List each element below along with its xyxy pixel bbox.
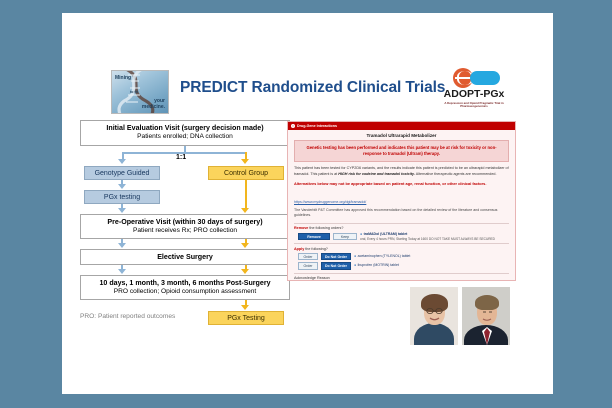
pgx-testing-bottom-label: PGx Testing — [227, 315, 265, 322]
page-title: PREDICT Randomized Clinical Trials — [180, 79, 455, 97]
remove-section-label: Remove — [294, 226, 308, 230]
remove-order-name: traMADol (ULTRAM) tablet — [364, 232, 408, 236]
pgx-testing-top-label: PGx testing — [104, 194, 140, 201]
keep-button[interactable]: Keep — [333, 233, 357, 241]
arrowhead-postop-to-pgx — [241, 305, 249, 310]
cds-alert-body: This patient has been tested for CYP2D6 … — [294, 166, 509, 177]
dna-logo-line3: to fit — [130, 90, 138, 94]
arrowhead-left — [118, 159, 126, 164]
adopt-pgx-logo: ADOPT-PGx A Depression and Opioid Pragma… — [441, 68, 507, 116]
cds-alert-heading: Tramadol Ultrarapid Metabolizer — [288, 130, 515, 140]
adopt-pgx-subtitle: A Depression and Opioid Pragmatic Trial … — [441, 102, 507, 109]
flow-box-elective-surgery: Elective Surgery — [80, 249, 290, 265]
postop-line2: PRO collection; Opioid consumption asses… — [114, 288, 257, 297]
pill-capsule-icon — [470, 71, 500, 85]
flow-box-post-surgery: 10 days, 1 month, 3 month, 6 months Post… — [80, 275, 290, 300]
cds-alert-titlebar: ! Drug-Gene Interactions — [288, 122, 515, 130]
apply-order-text-acetaminophen: ●acetaminophen (TYLENOL) tablet — [354, 254, 410, 259]
acknowledge-reason-label: Acknowledge Reason — [294, 273, 509, 281]
cds-apply-section: Apply the following? — [294, 243, 509, 251]
remove-button[interactable]: Remove — [298, 233, 330, 241]
cds-reference-link[interactable]: https://www.mydruggenome.org/dgi/tramado… — [294, 200, 366, 204]
dna-logo-line1: Mining — [115, 75, 131, 81]
flowchart-footnote: PRO: Patient reported outcomes — [80, 313, 175, 320]
initial-visit-line2: Patients enrolled; DNA collection — [137, 133, 233, 142]
arrowhead-control-to-preop — [241, 208, 249, 213]
do-not-order-button-acetaminophen[interactable]: Do Not Order — [321, 253, 351, 261]
remove-order-row: Remove Keep ●traMADol (ULTRAM) tablet or… — [298, 232, 515, 241]
cds-remove-section: Remove the following orders? — [294, 223, 509, 231]
medication-icon: ● — [354, 263, 356, 267]
apply-order-row: Order Do Not Order ●ibuprofen (MOTRIN) t… — [298, 262, 515, 270]
postop-line1: 10 days, 1 month, 3 month, 6 months Post… — [99, 279, 270, 288]
headshot-right-features — [462, 287, 510, 345]
arrowhead-right — [241, 159, 249, 164]
arm-control-group: Control Group — [208, 166, 284, 180]
flow-box-initial-visit: Initial Evaluation Visit (surgery decisi… — [80, 120, 290, 146]
flow-box-pgx-testing-top: PGx testing — [84, 190, 160, 204]
dna-helix-logo: Mining to fit your medicine. — [111, 70, 169, 114]
apply-order-text-ibuprofen: ●ibuprofen (MOTRIN) tablet — [354, 263, 399, 268]
arm-genotype-guided: Genotype Guided — [84, 166, 160, 180]
arm-genotype-label: Genotype Guided — [95, 170, 150, 177]
order-button-ibuprofen[interactable]: Order — [298, 262, 318, 270]
apply-order-row: Order Do Not Order ●acetaminophen (TYLEN… — [298, 253, 515, 261]
medication-icon: ● — [354, 254, 356, 258]
cds-body-part2: Alternative therapeutic agents are recom… — [415, 172, 497, 176]
headshot-right — [462, 287, 510, 345]
flow-box-preoperative-visit: Pre-Operative Visit (within 30 days of s… — [80, 214, 290, 239]
preop-line1: Pre-Operative Visit (within 30 days of s… — [107, 218, 262, 227]
cds-alternatives-note: Alternatives below may not be appropriat… — [294, 181, 509, 186]
arrowhead-preop-to-surgery-gold — [241, 243, 249, 248]
arrowhead-genotype-to-pgx — [118, 184, 126, 189]
apply-order-name-ibuprofen: ibuprofen (MOTRIN) tablet — [358, 263, 399, 267]
remove-order-text: ●traMADol (ULTRAM) tablet oral, Every 4 … — [360, 232, 495, 241]
apply-section-label: Apply — [294, 247, 304, 251]
cds-body-emphasis: HIGH risk for codeine and tramadol toxic… — [338, 172, 415, 176]
remove-section-suffix: the following orders? — [308, 226, 343, 230]
randomization-ratio: 1:1 — [176, 154, 186, 161]
cds-alert-warning: Genetic testing has been performed and i… — [294, 140, 509, 162]
apply-order-name-acetaminophen: acetaminophen (TYLENOL) tablet — [358, 254, 411, 258]
alert-warning-icon: ! — [291, 124, 295, 128]
adopt-pgx-name: ADOPT-PGx — [441, 89, 507, 101]
arrowhead-preop-to-surgery-blue — [118, 243, 126, 248]
cds-approval-note: The Vanderbilt P&T Committee has approve… — [294, 208, 509, 219]
headshot-left-features — [410, 287, 458, 345]
dna-logo-line5: medicine. — [142, 104, 165, 110]
apply-section-suffix: the following? — [304, 247, 328, 251]
arm-control-label: Control Group — [224, 170, 268, 177]
preop-line2: Patient receives Rx; PRO collection — [133, 227, 237, 236]
arrowhead-surgery-to-postop-blue — [118, 269, 126, 274]
elective-surgery-label: Elective Surgery — [157, 253, 213, 262]
cds-alert-title: Drug-Gene Interactions — [297, 124, 337, 128]
trial-flowchart: Initial Evaluation Visit (surgery decisi… — [80, 120, 290, 335]
arrowhead-surgery-to-postop-gold — [241, 269, 249, 274]
remove-order-sig: oral, Every 4 hours PRN, Starting Today … — [360, 237, 495, 241]
medication-icon: ● — [360, 232, 362, 236]
connector-control-long — [245, 180, 247, 209]
adopt-pgx-glyph — [444, 68, 504, 88]
order-button-acetaminophen[interactable]: Order — [298, 253, 318, 261]
do-not-order-button-ibuprofen[interactable]: Do Not Order — [321, 262, 351, 270]
initial-visit-line1: Initial Evaluation Visit (surgery decisi… — [106, 124, 263, 133]
arrowhead-pgx-to-preop — [118, 208, 126, 213]
headshot-left — [410, 287, 458, 345]
presentation-slide: Mining to fit your medicine. PREDICT Ran… — [62, 13, 553, 394]
cds-alert-panel: ! Drug-Gene Interactions Tramadol Ultrar… — [287, 121, 516, 281]
flow-box-pgx-testing-bottom: PGx Testing — [208, 311, 284, 325]
